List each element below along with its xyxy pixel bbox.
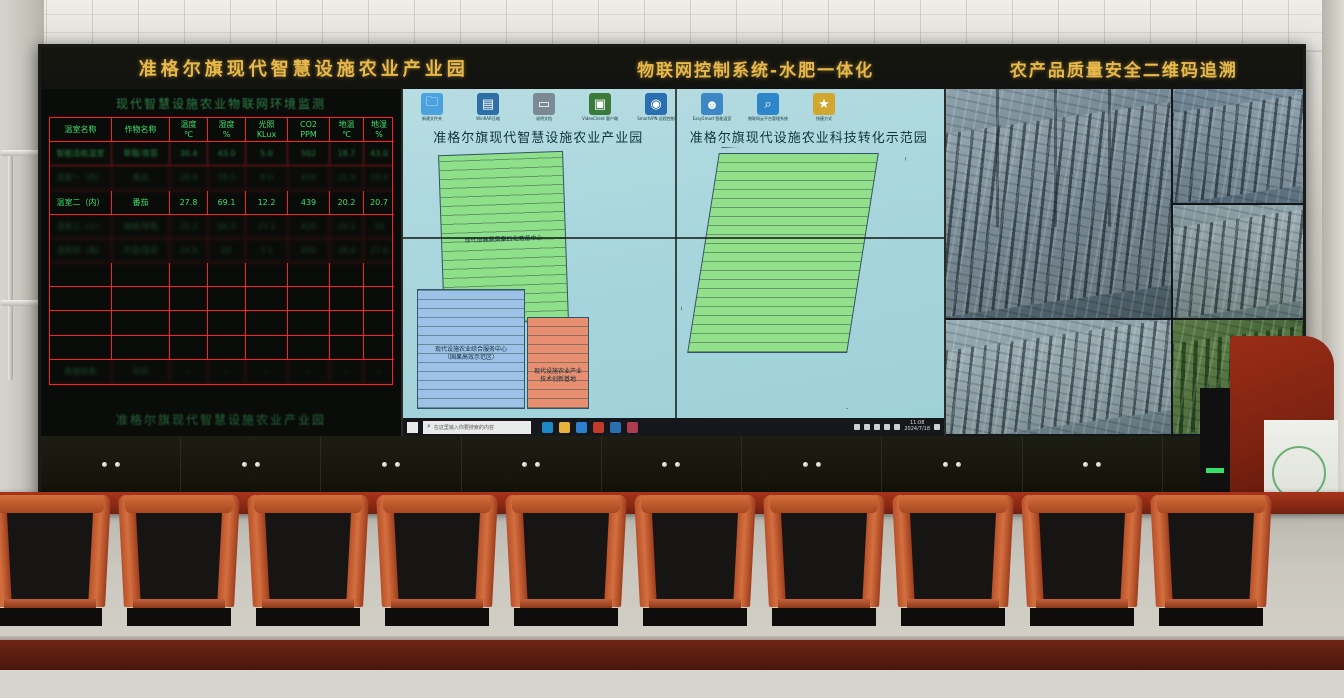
network-icon[interactable] <box>864 424 870 430</box>
table-header-cell: 温室名称 <box>50 118 112 142</box>
table-cell <box>246 336 288 360</box>
chair-back-cushion <box>393 513 481 599</box>
chair-cross-rail <box>649 599 741 608</box>
chair-seat <box>385 608 489 626</box>
table-cell <box>112 263 170 287</box>
table-cell <box>112 336 170 360</box>
cabinet-door[interactable] <box>462 436 602 496</box>
table-cell <box>208 263 246 287</box>
table-cell: 450 <box>288 239 330 263</box>
chair-cross-rail <box>1165 599 1257 608</box>
map-heading-left: 准格尔旗现代智慧设施农业产业园 <box>403 127 674 146</box>
desktop-icon[interactable]: ▤WinRAR压缩 <box>465 93 511 121</box>
image-icon: ▤ <box>477 93 499 115</box>
chair-seat <box>0 608 102 626</box>
table-cell: 7.1 <box>246 239 288 263</box>
chair-cross-rail <box>778 599 870 608</box>
cctv-feed-greenhouse-main-overview[interactable] <box>946 89 1171 318</box>
table-cell: 18.6 <box>330 239 364 263</box>
led-panel-footer: 准格尔旗现代智慧设施农业产业园 <box>41 411 401 428</box>
led-monitoring-panel[interactable]: 现代智慧设施农业物联网环境监测 温室名称作物名称温度℃湿度%光照KLuxCO2P… <box>41 89 401 436</box>
chair-top-rail <box>1028 495 1136 513</box>
equipment-cabinet-row[interactable] <box>41 436 1303 496</box>
chair-top-rail <box>0 495 104 513</box>
conference-chair <box>377 495 497 645</box>
podium-sign-board <box>1264 420 1338 498</box>
table-cell <box>330 336 364 360</box>
desktop-icon[interactable]: ☻Easy5mart 智能温室 <box>689 93 735 121</box>
cabinet-door[interactable] <box>321 436 461 496</box>
table-cell: 21.0 <box>330 166 364 190</box>
conference-chair <box>506 495 626 645</box>
chair-seat <box>772 608 876 626</box>
table-cell: -- <box>246 360 288 384</box>
table-cell: 芹菜/菠菜 <box>112 239 170 263</box>
table-cell <box>330 263 364 287</box>
table-cell: -- <box>364 360 394 384</box>
chair-back-cushion <box>780 513 868 599</box>
chair-top-rail <box>512 495 620 513</box>
chair-seat <box>127 608 231 626</box>
map-boundary-outline <box>681 147 906 409</box>
park-layout-map[interactable]: 现代设施蔬菜集约化育苗中心 现代设施农业综合服务中心 （国果高效示范区） 现代设… <box>403 147 944 414</box>
table-cell: 智能连栋温室 <box>50 142 112 166</box>
table-cell: 20.1 <box>330 215 364 239</box>
table-cell: 58.5 <box>208 166 246 190</box>
input-method-icon[interactable] <box>894 424 900 430</box>
cctv-feed-greenhouse-nursery-beds[interactable] <box>946 320 1171 434</box>
table-cell: 28.0 <box>170 166 208 190</box>
table-cell <box>170 336 208 360</box>
conference-chair <box>635 495 755 645</box>
desktop-icon[interactable]: ▭说明文档 <box>521 93 567 121</box>
chair-seat <box>901 608 1005 626</box>
table-cell <box>50 287 112 311</box>
table-cell: 辣椒/草莓 <box>112 215 170 239</box>
cabinet-door[interactable] <box>742 436 882 496</box>
explorer-icon[interactable] <box>559 422 570 433</box>
table-cell: 温室三（小） <box>50 215 112 239</box>
table-header-cell: 地湿% <box>364 118 394 142</box>
table-cell <box>364 287 394 311</box>
banner-title-center: 物联网控制系统-水肥一体化 <box>567 47 945 89</box>
chevron-up-icon[interactable] <box>854 424 860 430</box>
chair-seat <box>514 608 618 626</box>
plot-service-center[interactable]: 现代设施农业综合服务中心 （国果高效示范区） <box>417 289 525 409</box>
mail-icon[interactable] <box>576 422 587 433</box>
chair-seat <box>643 608 747 626</box>
edge-icon[interactable] <box>542 422 553 433</box>
table-cell <box>50 336 112 360</box>
desktop-icon-label: Easy5mart 智能温室 <box>689 116 735 121</box>
search-icon: ⌕ <box>427 423 431 431</box>
monitor-app-icon[interactable] <box>627 422 638 433</box>
table-cell <box>170 311 208 335</box>
desktop-icon-label: 新建文件夹 <box>409 116 455 121</box>
volume-icon[interactable] <box>874 424 880 430</box>
conference-chair <box>248 495 368 645</box>
table-cell: 番茄 <box>112 191 170 215</box>
table-cell: 温室一（内） <box>50 166 112 190</box>
action-center-icon[interactable] <box>934 424 940 430</box>
table-cell <box>364 311 394 335</box>
chair-back-cushion <box>264 513 352 599</box>
table-cell: 25.2 <box>170 215 208 239</box>
chair-top-rail <box>641 495 749 513</box>
cabinet-door[interactable] <box>181 436 321 496</box>
table-cell: 23.1 <box>246 215 288 239</box>
table-cell: 30.4 <box>170 142 208 166</box>
table-cell: -- <box>208 360 246 384</box>
environment-data-table[interactable]: 温室名称作物名称温度℃湿度%光照KLuxCO2PPM地温℃地湿%智能连栋温室草莓… <box>49 117 393 385</box>
table-cell <box>288 263 330 287</box>
conference-table-front <box>0 640 1344 670</box>
table-cell: 20.2 <box>330 191 364 215</box>
table-cell <box>330 311 364 335</box>
rail-post <box>8 150 13 380</box>
greenhouse-bench-rows <box>1173 206 1303 318</box>
desktop-icon-label: VideoClient 客户端 <box>577 116 623 121</box>
shield-icon[interactable] <box>884 424 890 430</box>
conference-chair <box>1022 495 1142 645</box>
map-heading-right: 准格尔旗现代设施农业科技转化示范园 <box>674 127 945 146</box>
table-cell: 43.0 <box>364 142 394 166</box>
table-cell <box>330 287 364 311</box>
taskbar-search-input[interactable]: ⌕ 在这里输入你要搜索的内容 <box>423 421 531 434</box>
system-tray[interactable]: 11:08 2024/7/18 <box>854 421 940 433</box>
desktop-icon[interactable]: ★快捷方式 <box>801 93 847 121</box>
table-header-cell: 湿度% <box>208 118 246 142</box>
table-cell <box>364 336 394 360</box>
search-placeholder: 在这里输入你要搜索的内容 <box>434 424 494 431</box>
table-cell <box>364 263 394 287</box>
chair-back-cushion <box>6 513 94 599</box>
document-icon: ▭ <box>533 93 555 115</box>
chair-top-rail <box>899 495 1007 513</box>
cabinet-door[interactable] <box>602 436 742 496</box>
taskbar-pinned-apps[interactable] <box>542 422 638 433</box>
cabinet-door[interactable] <box>41 436 181 496</box>
control-room-scene: 准格尔旗现代智慧设施农业产业园 物联网控制系统-水肥一体化 农产品质量安全二维码… <box>0 0 1344 698</box>
chair-row <box>0 495 1344 645</box>
table-cell: 温室四（高） <box>50 239 112 263</box>
table-header-cell: CO2PPM <box>288 118 330 142</box>
chair-seat <box>256 608 360 626</box>
desktop-display-panel[interactable]: 🗀新建文件夹▤WinRAR压缩▭说明文档▣VideoClient 客户端◉Sma… <box>401 89 946 436</box>
chair-top-rail <box>1157 495 1265 513</box>
table-header-cell: 温度℃ <box>170 118 208 142</box>
desktop-icon-label: WinRAR压缩 <box>465 116 511 121</box>
folder-icon: 🗀 <box>421 93 443 115</box>
conference-chair <box>1151 495 1271 645</box>
foreground-floor-strip <box>0 670 1344 698</box>
chair-back-cushion <box>1167 513 1255 599</box>
greenhouse-bench-rows <box>946 320 1171 434</box>
table-cell <box>208 287 246 311</box>
table-cell <box>246 263 288 287</box>
table-cell: 502 <box>288 142 330 166</box>
chair-top-rail <box>770 495 878 513</box>
table-cell: 420 <box>288 215 330 239</box>
table-cell: 数据采集 <box>50 360 112 384</box>
table-cell <box>50 311 112 335</box>
video-wall: 准格尔旗现代智慧设施农业产业园 物联网控制系统-水肥一体化 农产品质量安全二维码… <box>38 44 1306 499</box>
conference-chair <box>119 495 239 645</box>
desktop-icon-label: 快捷方式 <box>801 116 847 121</box>
start-button-icon[interactable] <box>407 422 418 433</box>
video-icon: ▣ <box>589 93 611 115</box>
conference-chair <box>0 495 110 645</box>
banner-title-left: 准格尔旗现代智慧设施农业产业园 <box>41 47 567 89</box>
desktop-icon-label: 物联网云平台管理系统 <box>745 116 791 121</box>
chair-back-cushion <box>909 513 997 599</box>
table-cell: 实时 <box>112 360 170 384</box>
screen-array: 现代智慧设施农业物联网环境监测 温室名称作物名称温度℃湿度%光照KLuxCO2P… <box>41 89 1303 436</box>
status-led-indicator <box>1206 468 1224 473</box>
settings-icon[interactable] <box>610 422 621 433</box>
chair-cross-rail <box>1036 599 1128 608</box>
table-cell: 19.0 <box>364 166 394 190</box>
chair-cross-rail <box>391 599 483 608</box>
table-cell: 66.0 <box>208 215 246 239</box>
table-cell: -- <box>288 360 330 384</box>
cabinet-door[interactable] <box>1023 436 1163 496</box>
table-cell <box>50 263 112 287</box>
table-cell: 20.7 <box>364 191 394 215</box>
table-cell: 温室二（内） <box>50 191 112 215</box>
table-cell <box>288 336 330 360</box>
table-cell <box>170 287 208 311</box>
plot-innovation-base[interactable]: 现代设施农业产业 技术创新基地 <box>527 317 589 409</box>
table-cell <box>112 287 170 311</box>
map-headings: 准格尔旗现代智慧设施农业产业园 准格尔旗现代设施农业科技转化示范园 <box>403 127 944 146</box>
conference-chair <box>764 495 884 645</box>
cabinet-door[interactable] <box>882 436 1022 496</box>
greenhouse-column <box>1054 89 1057 227</box>
bezel-seam-horizontal <box>403 237 944 239</box>
chair-top-rail <box>125 495 233 513</box>
table-cell <box>246 287 288 311</box>
table-cell: 69.1 <box>208 191 246 215</box>
cctv-feed-greenhouse-seedling-racks[interactable] <box>1173 89 1303 203</box>
bezel-seam-vertical <box>675 89 677 436</box>
browser-icon: ◉ <box>645 93 667 115</box>
table-cell: 60 <box>208 239 246 263</box>
greenhouse-column <box>1108 89 1111 227</box>
table-cell <box>208 336 246 360</box>
desktop-icon[interactable]: 🗀新建文件夹 <box>409 93 455 121</box>
chair-seat <box>1030 608 1134 626</box>
plot-label: 现代设施农业产业 技术创新基地 <box>528 368 588 384</box>
table-cell <box>112 311 170 335</box>
table-cell: 17.0 <box>364 239 394 263</box>
chair-cross-rail <box>907 599 999 608</box>
conference-chair <box>893 495 1013 645</box>
banner-title-right: 农产品质量安全二维码追溯 <box>945 47 1303 89</box>
greenhouse-column <box>996 89 999 227</box>
star-icon: ★ <box>813 93 835 115</box>
table-cell: 12.2 <box>246 191 288 215</box>
chair-back-cushion <box>135 513 223 599</box>
desktop-icon-label: SmartVPN 远程控制 <box>633 116 679 121</box>
table-cell: 27.8 <box>170 191 208 215</box>
table-cell: 黄瓜 <box>112 166 170 190</box>
table-cell: 450 <box>288 166 330 190</box>
desktop-icon[interactable]: ⌕物联网云平台管理系统 <box>745 93 791 121</box>
table-cell: 43.0 <box>208 142 246 166</box>
table-cell <box>170 263 208 287</box>
greenhouse-bench-rows <box>946 96 1171 318</box>
desktop-icon[interactable]: ▣VideoClient 客户端 <box>577 93 623 121</box>
desktop-icon-row[interactable]: 🗀新建文件夹▤WinRAR压缩▭说明文档▣VideoClient 客户端◉Sma… <box>409 93 847 121</box>
plot-row-lines <box>528 318 588 408</box>
table-header-cell: 光照KLux <box>246 118 288 142</box>
chair-top-rail <box>383 495 491 513</box>
greenhouse-bench-rows <box>1173 91 1303 203</box>
desktop-icon-label: 说明文档 <box>521 116 567 121</box>
led-panel-title: 现代智慧设施农业物联网环境监测 <box>41 95 401 112</box>
table-cell: -- <box>170 360 208 384</box>
windows-taskbar[interactable]: ⌕ 在这里输入你要搜索的内容 11:08 2024/7/18 <box>403 418 944 436</box>
desktop-icon[interactable]: ◉SmartVPN 远程控制 <box>633 93 679 121</box>
chair-cross-rail <box>133 599 225 608</box>
table-cell: 439 <box>288 191 330 215</box>
taskbar-clock[interactable]: 11:08 2024/7/18 <box>904 421 930 433</box>
table-header-cell: 作物名称 <box>112 118 170 142</box>
clock-date: 2024/7/18 <box>904 426 930 432</box>
media-icon[interactable] <box>593 422 604 433</box>
table-cell: 草莓/育苗 <box>112 142 170 166</box>
search-icon: ⌕ <box>757 93 779 115</box>
chair-back-cushion <box>651 513 739 599</box>
table-cell: 33 <box>364 215 394 239</box>
chair-top-rail <box>254 495 362 513</box>
table-cell: 18.7 <box>330 142 364 166</box>
chair-seat <box>1159 608 1263 626</box>
table-cell <box>246 311 288 335</box>
chair-back-cushion <box>522 513 610 599</box>
chair-cross-rail <box>262 599 354 608</box>
table-cell <box>288 311 330 335</box>
chat-icon: ☻ <box>701 93 723 115</box>
table-header-cell: 地温℃ <box>330 118 364 142</box>
table-cell: 8.0 <box>246 166 288 190</box>
chair-cross-rail <box>4 599 96 608</box>
table-cell: 5.0 <box>246 142 288 166</box>
table-cell: 24.6 <box>170 239 208 263</box>
cctv-feed-greenhouse-walkway[interactable] <box>1173 205 1303 319</box>
table-cell <box>208 311 246 335</box>
table-cell <box>288 287 330 311</box>
table-cell: -- <box>330 360 364 384</box>
wall-banner: 准格尔旗现代智慧设施农业产业园 物联网控制系统-水肥一体化 农产品质量安全二维码… <box>41 47 1303 89</box>
plot-label: 现代设施农业综合服务中心 （国果高效示范区） <box>418 346 524 362</box>
chair-back-cushion <box>1038 513 1126 599</box>
chair-cross-rail <box>520 599 612 608</box>
